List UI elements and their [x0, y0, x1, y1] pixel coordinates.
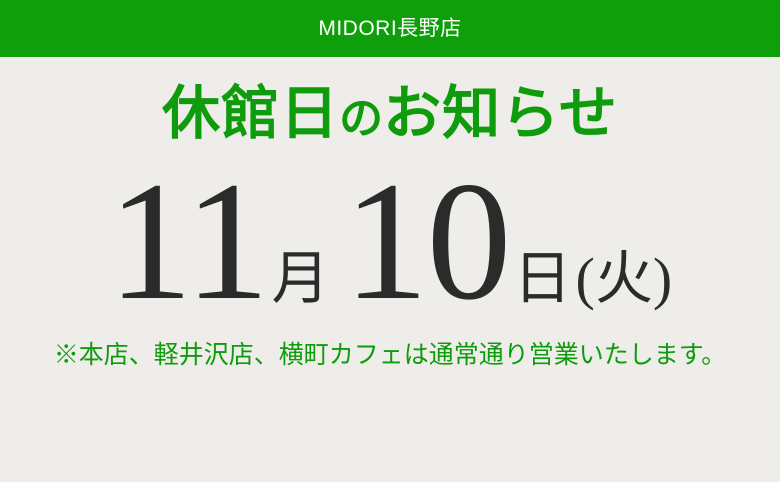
- notice-title-main: 休館日: [162, 81, 339, 146]
- notice-title: 休館日のお知らせ: [162, 85, 618, 143]
- footer-note-text: ※本店、軽井沢店、横町カフェは通常通り営業いたします。: [54, 342, 727, 370]
- notice-title-tail: お知らせ: [383, 81, 618, 146]
- footer-note-container: ※本店、軽井沢店、横町カフェは通常通り営業いたします。: [0, 342, 780, 370]
- closure-notice-poster: MIDORI長野店 休館日のお知らせ 11月 10日(火) ※本店、軽井沢店、横…: [0, 0, 780, 482]
- store-name-label: MIDORI長野店: [318, 18, 461, 39]
- day-unit-label: 日: [510, 250, 572, 308]
- month-group: 11月: [108, 175, 330, 308]
- weekday-label: (火): [572, 250, 673, 308]
- month-number: 11: [108, 175, 268, 308]
- closure-date-container: 11月 10日(火): [0, 175, 780, 308]
- month-unit-label: 月: [268, 250, 330, 308]
- store-header-band: MIDORI長野店: [0, 0, 780, 57]
- notice-title-particle: の: [339, 94, 383, 143]
- day-number: 10: [344, 175, 510, 308]
- day-group: 10日(火): [344, 175, 673, 308]
- notice-title-container: 休館日のお知らせ: [0, 85, 780, 143]
